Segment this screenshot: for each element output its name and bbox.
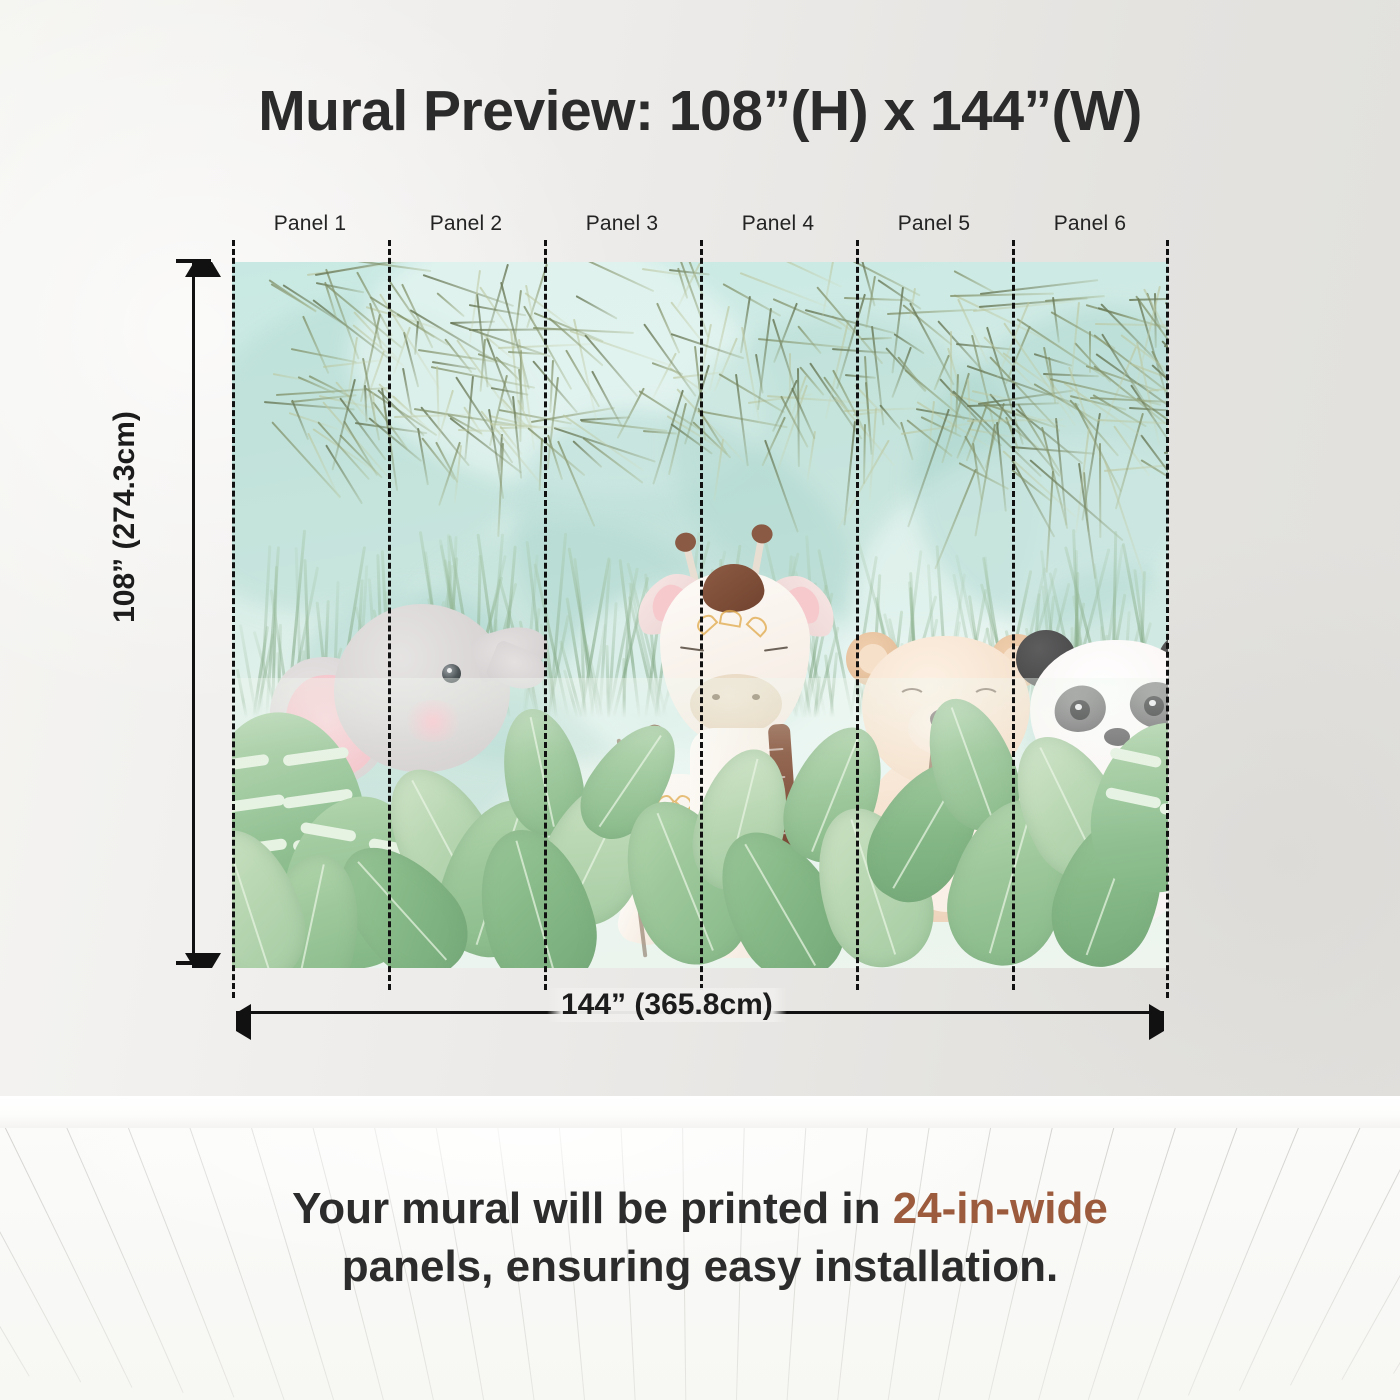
panel-label-row: Panel 1 Panel 2 Panel 3 Panel 4 Panel 5 … [232,212,1168,236]
panel-label-3: Panel 3 [544,212,700,236]
panel-label-4: Panel 4 [700,212,856,236]
caption-prefix: Your mural will be printed in [292,1184,893,1233]
caption-line-1: Your mural will be printed in 24-in-wide [0,1180,1400,1238]
panel-divider-4 [856,240,859,990]
mural-preview-stage: Mural Preview: 108”(H) x 144”(W) Panel 1… [0,0,1400,1400]
width-dimension-label: 144” (365.8cm) [547,988,787,1022]
panel-divider-3 [700,240,703,990]
baseboard [0,1096,1400,1130]
panel-label-2: Panel 2 [388,212,544,236]
panel-divider-left-edge [232,240,235,998]
panel-label-1: Panel 1 [232,212,388,236]
height-tick-bottom [176,961,211,965]
height-arrow [192,262,195,968]
footer-caption: Your mural will be printed in 24-in-wide… [0,1180,1400,1296]
panel-label-6: Panel 6 [1012,212,1168,236]
caption-accent: 24-in-wide [893,1184,1108,1233]
caption-line-2: panels, ensuring easy installation. [0,1238,1400,1296]
panel-divider-right-edge [1166,240,1169,998]
panel-label-5: Panel 5 [856,212,1012,236]
panel-divider-1 [388,240,391,990]
page-title: Mural Preview: 108”(H) x 144”(W) [0,78,1400,144]
panel-divider-5 [1012,240,1015,990]
panel-divider-2 [544,240,547,990]
height-dimension-label: 108” (274.3cm) [108,387,142,647]
